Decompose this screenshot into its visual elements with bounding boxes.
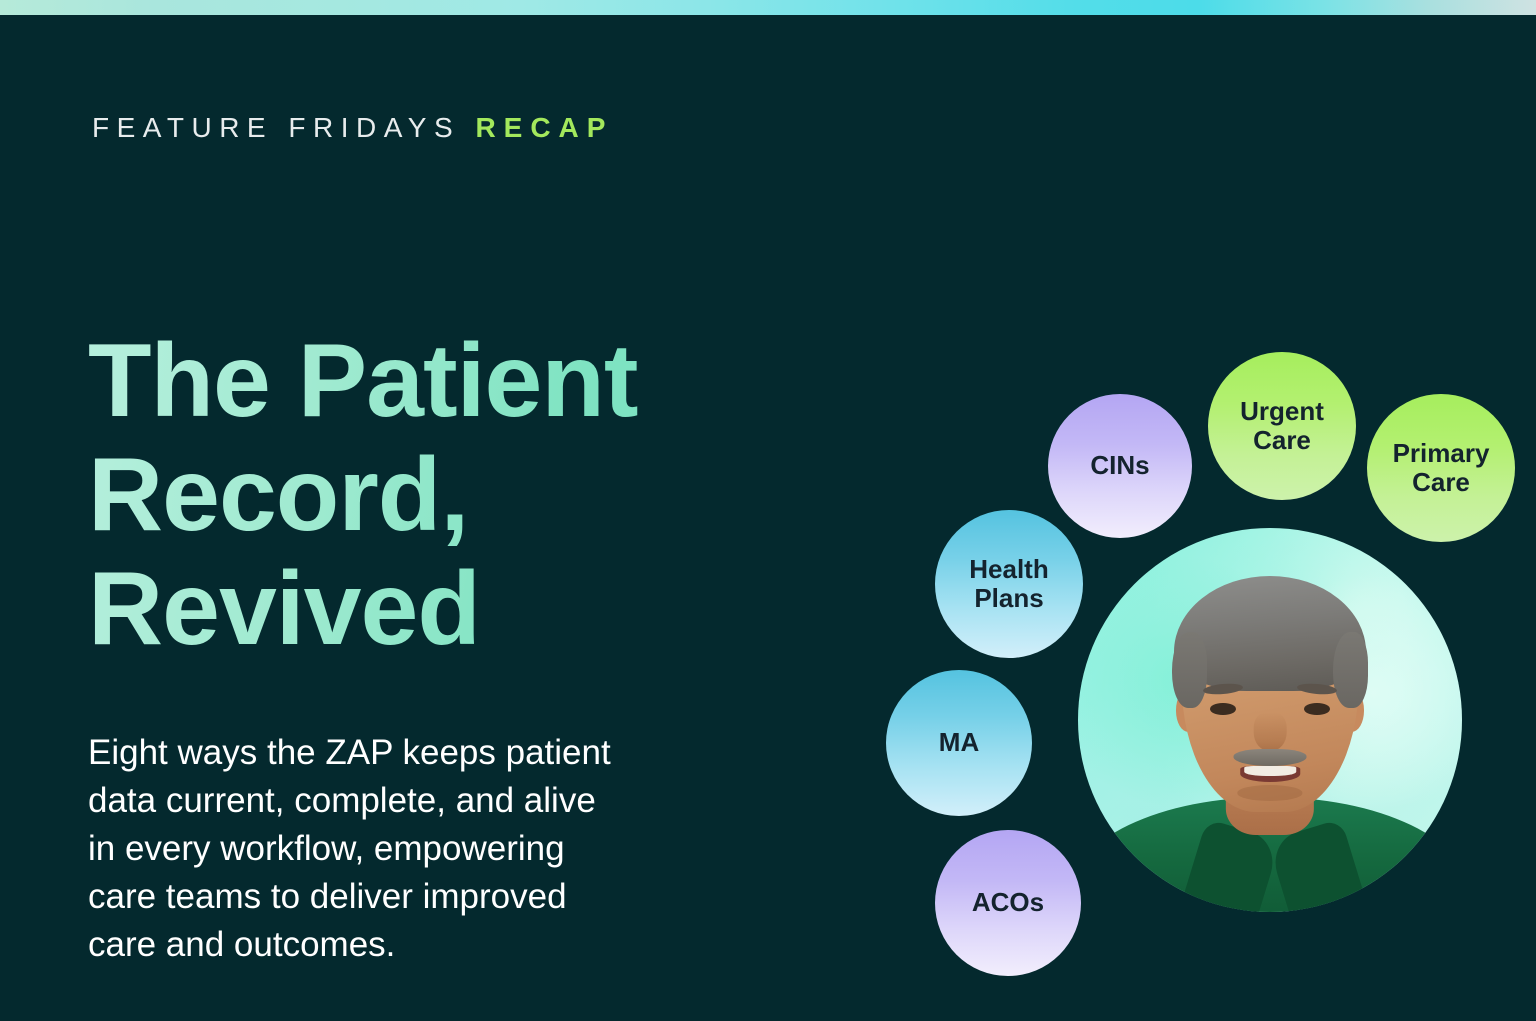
decorative-gradient-bar — [0, 0, 1536, 15]
bubble-health-plans-label: Health Plans — [935, 555, 1083, 614]
portrait-hair-side-right — [1333, 632, 1368, 709]
bubble-diagram: Health Plans CINs Urgent Care Primary Ca… — [860, 330, 1536, 1000]
body-line-5: care and outcomes. — [88, 921, 688, 969]
eyebrow-heading: FEATURE FRIDAYS RECAP — [92, 114, 613, 142]
body-line-3: in every workflow, empowering — [88, 825, 688, 873]
bubble-ma: MA — [886, 670, 1032, 816]
slide-canvas: FEATURE FRIDAYS RECAP The Patient Record… — [0, 0, 1536, 1021]
eyebrow-accent-text: RECAP — [475, 112, 613, 143]
page-title: The Patient Record, Revived — [88, 324, 748, 667]
headline-line-2: Record, — [88, 438, 748, 552]
bubble-acos: ACOs — [935, 830, 1081, 976]
portrait-hair-side-left — [1172, 632, 1207, 709]
eyebrow-main-text: FEATURE FRIDAYS — [92, 112, 460, 143]
body-line-1: Eight ways the ZAP keeps patient — [88, 729, 688, 777]
bubble-ma-label: MA — [933, 728, 985, 757]
portrait-teeth — [1244, 766, 1296, 776]
bubble-acos-label: ACOs — [966, 888, 1050, 917]
bubble-cins-label: CINs — [1084, 451, 1155, 480]
patient-portrait-figure — [1078, 528, 1462, 912]
portrait-eye-right — [1304, 703, 1329, 715]
patient-portrait-bubble — [1078, 528, 1462, 912]
headline-line-1: The Patient — [88, 324, 748, 438]
bubble-primary-care: Primary Care — [1367, 394, 1515, 542]
portrait-mustache — [1234, 749, 1307, 767]
body-line-2: data current, complete, and alive — [88, 777, 688, 825]
bubble-primary-care-label: Primary Care — [1367, 439, 1515, 498]
portrait-nose — [1254, 712, 1287, 750]
body-copy: Eight ways the ZAP keeps patient data cu… — [88, 729, 688, 969]
bubble-cins: CINs — [1048, 394, 1192, 538]
portrait-eye-left — [1210, 703, 1235, 715]
bubble-urgent-care: Urgent Care — [1208, 352, 1356, 500]
headline-line-3: Revived — [88, 552, 748, 666]
body-line-4: care teams to deliver improved — [88, 873, 688, 921]
bubble-urgent-care-label: Urgent Care — [1208, 397, 1356, 456]
portrait-mouth — [1240, 766, 1300, 782]
bubble-health-plans: Health Plans — [935, 510, 1083, 658]
